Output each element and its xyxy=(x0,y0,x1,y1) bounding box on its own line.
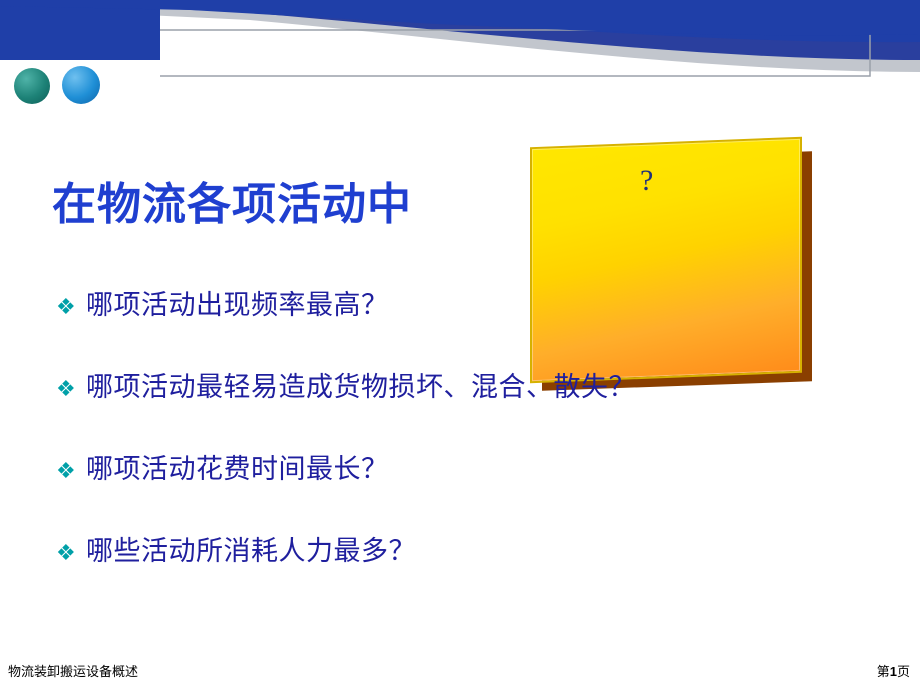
footer-page-indicator: 第1页 xyxy=(877,661,910,680)
footer-page-number: 1 xyxy=(890,664,897,679)
diamond-bullet-icon: ❖ xyxy=(56,288,86,324)
list-item: ❖ 哪项活动出现频率最高？ xyxy=(56,288,886,324)
diamond-bullet-icon: ❖ xyxy=(56,534,86,570)
list-item: ❖ 哪些活动所消耗人力最多？ xyxy=(56,534,886,570)
footer-page-suffix: 页 xyxy=(897,664,910,679)
page-title: 在物流各项活动中 xyxy=(52,168,412,232)
bullet-list: ❖ 哪项活动出现频率最高？ ❖ 哪项活动最轻易造成货物损坏、混合、散失？ ❖ 哪… xyxy=(56,288,886,616)
question-mark-text: ? xyxy=(640,164,653,198)
diamond-bullet-icon: ❖ xyxy=(56,370,86,406)
blue-circle-icon xyxy=(62,66,100,104)
footer-title: 物流装卸搬运设备概述 xyxy=(8,661,138,680)
list-item-text: 哪项活动最轻易造成货物损坏、混合、散失？ xyxy=(86,370,636,404)
teal-circle-icon xyxy=(14,68,50,104)
list-item-text: 哪项活动花费时间最长？ xyxy=(86,452,389,486)
list-item: ❖ 哪项活动最轻易造成货物损坏、混合、散失？ xyxy=(56,370,886,406)
slide: 在物流各项活动中 ? ❖ 哪项活动出现频率最高？ ❖ 哪项活动最轻易造成货物损坏… xyxy=(0,0,920,690)
logo-circles xyxy=(14,62,124,108)
list-item-text: 哪项活动出现频率最高？ xyxy=(86,288,389,322)
header-banner xyxy=(0,0,920,110)
footer-page-prefix: 第 xyxy=(877,664,890,679)
list-item-text: 哪些活动所消耗人力最多？ xyxy=(86,534,416,568)
list-item: ❖ 哪项活动花费时间最长？ xyxy=(56,452,886,488)
diamond-bullet-icon: ❖ xyxy=(56,452,86,488)
